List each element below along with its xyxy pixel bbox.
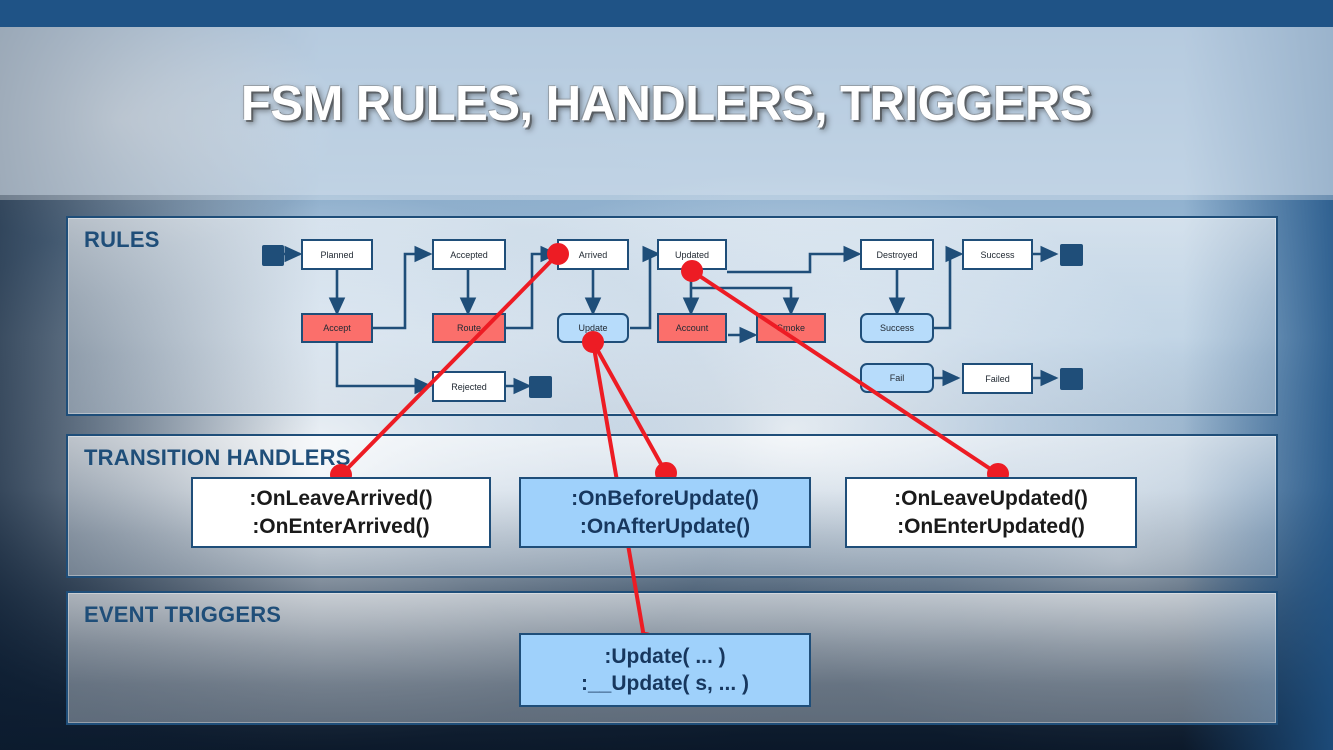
fsm-node-label: Accept <box>323 323 351 333</box>
fsm-node-rejected[interactable]: Rejected <box>432 371 506 402</box>
fsm-node-account[interactable]: Account <box>657 313 727 343</box>
fsm-node-accept[interactable]: Accept <box>301 313 373 343</box>
trigger-box-update[interactable]: :Update( ... ) :__Update( s, ... ) <box>519 633 811 707</box>
fsm-node-label: Failed <box>985 374 1010 384</box>
fsm-node-label: Destroyed <box>876 250 917 260</box>
fsm-node-label: Accepted <box>450 250 488 260</box>
handler-line: :OnLeaveArrived() <box>249 485 432 512</box>
fsm-node-success-handler[interactable]: Success <box>860 313 934 343</box>
panel-handlers-title: TRANSITION HANDLERS <box>84 445 351 471</box>
fsm-node-label: Smoke <box>777 323 805 333</box>
fsm-node-label: Fail <box>890 373 905 383</box>
fsm-terminal-rejected-end <box>529 376 552 398</box>
fsm-terminal-failed-end <box>1060 368 1083 390</box>
handler-line: :OnEnterArrived() <box>252 513 429 540</box>
fsm-node-failed[interactable]: Failed <box>962 363 1033 394</box>
fsm-terminal-success-end <box>1060 244 1083 266</box>
fsm-node-smoke[interactable]: Smoke <box>756 313 826 343</box>
title-band-underline <box>0 195 1333 200</box>
fsm-terminal-start <box>262 245 284 266</box>
handler-line: :OnLeaveUpdated() <box>894 485 1088 512</box>
panel-rules-title: RULES <box>84 227 160 253</box>
fsm-node-label: Account <box>676 323 709 333</box>
slide-canvas: FSM RULES, HANDLERS, TRIGGERS RULES <box>0 0 1333 750</box>
fsm-node-route[interactable]: Route <box>432 313 506 343</box>
fsm-node-accepted[interactable]: Accepted <box>432 239 506 270</box>
top-accent-bar <box>0 0 1333 27</box>
handler-box-update[interactable]: :OnBeforeUpdate() :OnAfterUpdate() <box>519 477 811 548</box>
handler-box-updated[interactable]: :OnLeaveUpdated() :OnEnterUpdated() <box>845 477 1137 548</box>
fsm-node-label: Success <box>880 323 914 333</box>
fsm-node-label: Updated <box>675 250 709 260</box>
trigger-line: :__Update( s, ... ) <box>581 670 749 697</box>
fsm-node-label: Arrived <box>579 250 608 260</box>
fsm-node-label: Rejected <box>451 382 487 392</box>
fsm-node-planned[interactable]: Planned <box>301 239 373 270</box>
trigger-line: :Update( ... ) <box>604 643 725 670</box>
fsm-node-label: Success <box>980 250 1014 260</box>
fsm-node-updated[interactable]: Updated <box>657 239 727 270</box>
page-title: FSM RULES, HANDLERS, TRIGGERS <box>0 76 1333 132</box>
fsm-node-fail[interactable]: Fail <box>860 363 934 393</box>
fsm-node-success-state[interactable]: Success <box>962 239 1033 270</box>
fsm-node-arrived[interactable]: Arrived <box>557 239 629 270</box>
handler-line: :OnEnterUpdated() <box>897 513 1085 540</box>
handler-line: :OnAfterUpdate() <box>580 513 750 540</box>
fsm-node-update[interactable]: Update <box>557 313 629 343</box>
handler-box-arrived[interactable]: :OnLeaveArrived() :OnEnterArrived() <box>191 477 491 548</box>
fsm-node-label: Update <box>578 323 607 333</box>
panel-triggers-title: EVENT TRIGGERS <box>84 602 281 628</box>
handler-line: :OnBeforeUpdate() <box>571 485 759 512</box>
fsm-node-label: Planned <box>320 250 353 260</box>
fsm-node-destroyed[interactable]: Destroyed <box>860 239 934 270</box>
fsm-node-label: Route <box>457 323 481 333</box>
